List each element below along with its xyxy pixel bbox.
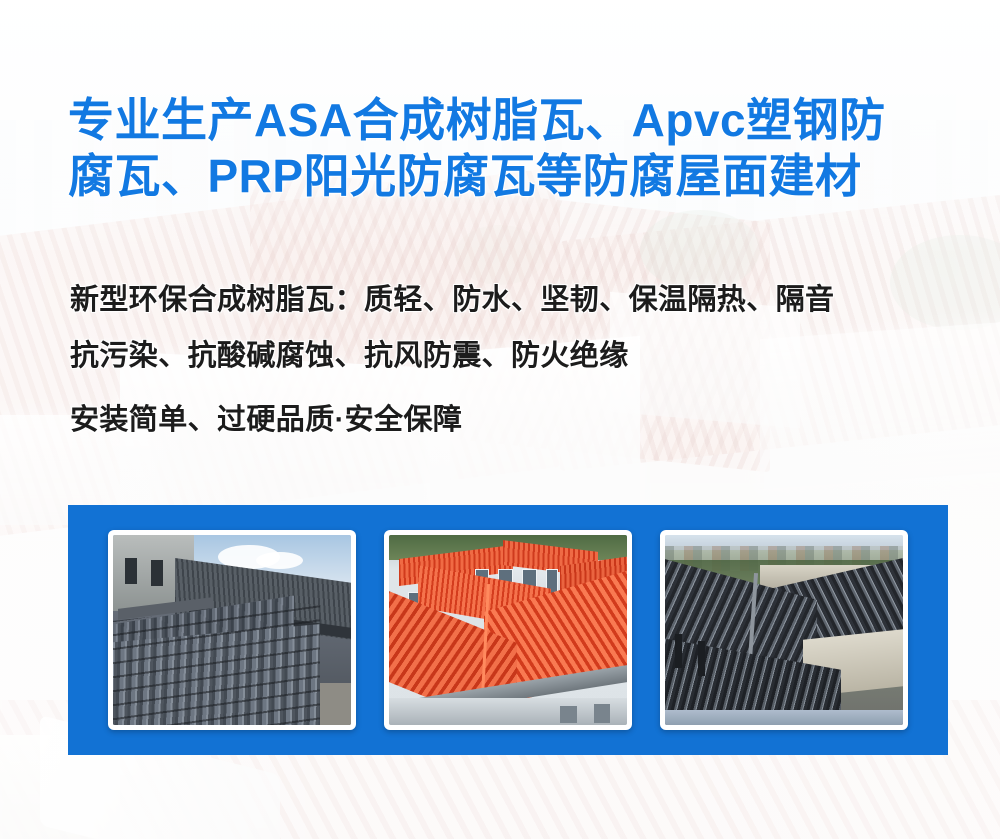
- promo-banner: 专业生产ASA合成树脂瓦、Apvc塑钢防 腐瓦、PRP阳光防腐瓦等防腐屋面建材 …: [0, 0, 1000, 839]
- dark-resin-tile-roof-photo: [665, 535, 903, 725]
- photo-window: [151, 560, 163, 587]
- photo-frame-1[interactable]: [108, 530, 356, 730]
- grey-resin-tile-roof-photo: [113, 535, 351, 725]
- photo-frame-3[interactable]: [660, 530, 908, 730]
- subheadline-line-1: 新型环保合成树脂瓦：质轻、防水、坚韧、保温隔热、隔音: [70, 272, 970, 328]
- headline-line-2: 腐瓦、PRP阳光防腐瓦等防腐屋面建材: [68, 148, 948, 204]
- subheadline: 新型环保合成树脂瓦：质轻、防水、坚韧、保温隔热、隔音 抗污染、抗酸碱腐蚀、抗风防…: [70, 272, 970, 448]
- photo-lower-building: [389, 698, 627, 725]
- photo-window: [560, 706, 577, 723]
- red-resin-tile-roof-photo: [389, 535, 627, 725]
- photo-window: [125, 558, 137, 585]
- headline: 专业生产ASA合成树脂瓦、Apvc塑钢防 腐瓦、PRP阳光防腐瓦等防腐屋面建材: [68, 92, 948, 204]
- photo-gallery-panel: [68, 505, 948, 755]
- photo-foreground: [665, 710, 903, 725]
- subheadline-line-3: 安装简单、过硬品质·安全保障: [70, 392, 970, 448]
- photo-frame-2[interactable]: [384, 530, 632, 730]
- photo-window: [594, 704, 611, 723]
- photo-column: [675, 634, 682, 668]
- photo-tile-rows: [113, 599, 320, 725]
- headline-line-1: 专业生产ASA合成树脂瓦、Apvc塑钢防: [68, 92, 948, 148]
- photo-column: [698, 641, 705, 675]
- subheadline-line-2: 抗污染、抗酸碱腐蚀、抗风防震、防火绝缘: [70, 328, 970, 384]
